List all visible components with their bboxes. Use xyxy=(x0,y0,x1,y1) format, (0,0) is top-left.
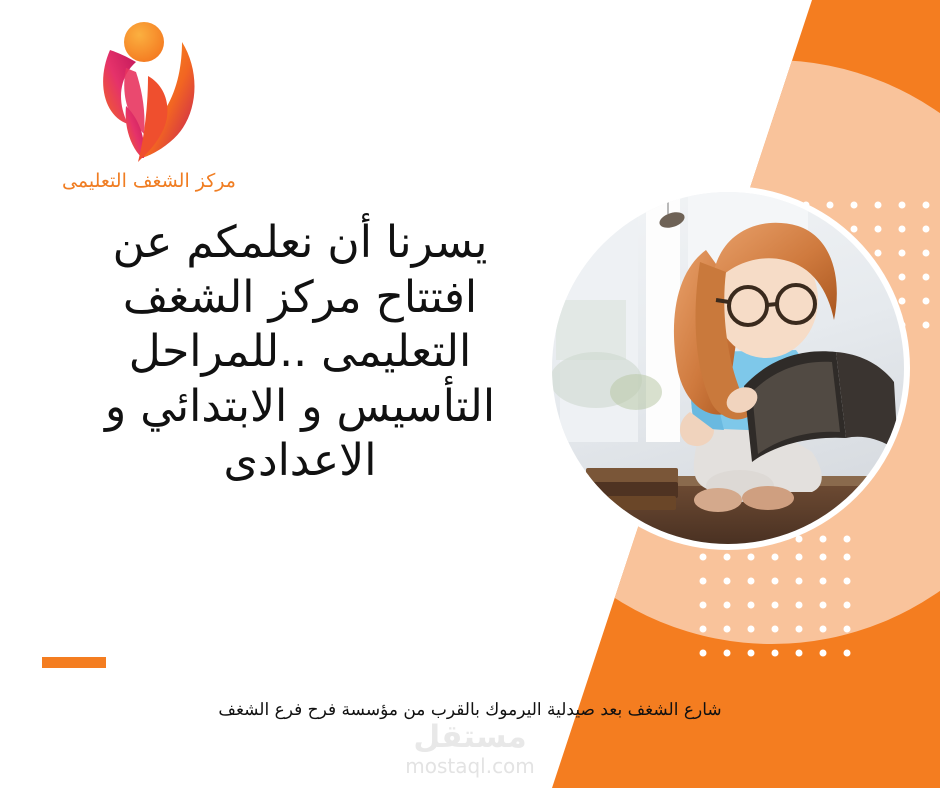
dot-grid-top xyxy=(803,202,930,329)
headline-line-1: يسرنا أن نعلمكم عن xyxy=(40,216,560,271)
watermark: مستقل mostaql.com xyxy=(0,722,940,778)
address-text: شارع الشغف بعد صيدلية اليرموك بالقرب من … xyxy=(0,700,940,720)
headline-line-3: التعليمى ..للمراحل xyxy=(40,325,560,380)
brand-logo-block: مركز الشغف التعليمى xyxy=(44,14,254,192)
headline-line-2: افتتاح مركز الشغف xyxy=(40,271,560,326)
dot-grid-bottom xyxy=(700,536,851,657)
headline-line-5: الاعدادى xyxy=(40,434,560,489)
photo-circle xyxy=(546,186,910,550)
headline-block: يسرنا أن نعلمكم عن افتتاح مركز الشغف الت… xyxy=(40,216,560,489)
poster-canvas: مركز الشغف التعليمى يسرنا أن نعلمكم عن ا… xyxy=(0,0,940,788)
brand-name-text: مركز الشغف التعليمى xyxy=(44,170,254,192)
headline-line-4: التأسيس و الابتدائي و xyxy=(40,380,560,435)
orange-diagonal-panel xyxy=(552,0,940,788)
watermark-arabic: مستقل xyxy=(0,722,940,753)
girl-reading-photo xyxy=(550,192,904,544)
orange-accent-rule xyxy=(42,657,106,668)
watermark-latin: mostaql.com xyxy=(0,754,940,778)
